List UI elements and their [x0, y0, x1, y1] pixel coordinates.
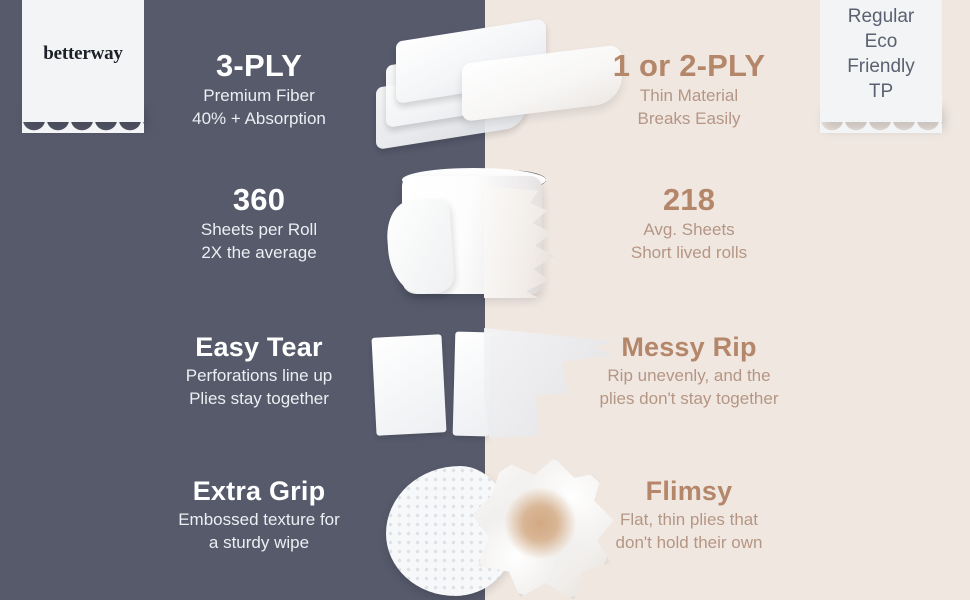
label-line-3: Friendly [847, 56, 915, 77]
subtext-line-1: Rip unevenly, and the [558, 364, 820, 387]
subtext-line-2: 2X the average [128, 241, 390, 264]
roll-paper-flap [385, 198, 455, 296]
feature-left-grip: Extra Grip Embossed texture for a sturdy… [128, 474, 390, 554]
subtext-line-2: Plies stay together [128, 387, 390, 410]
label-line-4: TP [869, 81, 893, 102]
feature-right-rip: Messy Rip Rip unevenly, and the plies do… [558, 330, 820, 410]
headline: 218 [558, 182, 820, 218]
feature-left-ply: 3-PLY Premium Fiber 40% + Absorption [128, 48, 390, 130]
feature-left-tear: Easy Tear Perforations line up Plies sta… [128, 330, 390, 410]
headline: Flimsy [558, 474, 820, 508]
subtext-line-2: a sturdy wipe [128, 531, 390, 554]
label-card: Regular Eco Friendly TP [820, 0, 942, 122]
comparison-infographic: 3-PLY Premium Fiber 40% + Absorption 360… [0, 0, 970, 600]
subtext-line-1: Premium Fiber [128, 84, 390, 107]
brand-card: betterway [22, 0, 144, 122]
subtext-line-1: Perforations line up [128, 364, 390, 387]
subtext-line-2: 40% + Absorption [128, 107, 390, 130]
feature-left-sheets: 360 Sheets per Roll 2X the average [128, 182, 390, 264]
headline: Extra Grip [128, 474, 390, 508]
subtext-line-1: Flat, thin plies that [558, 508, 820, 531]
subtext-line-2: don't hold their own [558, 531, 820, 554]
feature-right-sheets: 218 Avg. Sheets Short lived rolls [558, 182, 820, 264]
headline: 3-PLY [128, 48, 390, 84]
subtext-line-1: Avg. Sheets [558, 218, 820, 241]
headline: Messy Rip [558, 330, 820, 364]
subtext-line-1: Thin Material [558, 84, 820, 107]
brand-logo-text: betterway [43, 43, 122, 65]
subtext-line-2: Breaks Easily [558, 107, 820, 130]
label-card-text: Regular Eco Friendly TP [847, 4, 915, 104]
feature-right-ply: 1 or 2-PLY Thin Material Breaks Easily [558, 48, 820, 130]
subtext-line-2: Short lived rolls [558, 241, 820, 264]
headline: Easy Tear [128, 330, 390, 364]
feature-right-flimsy: Flimsy Flat, thin plies that don't hold … [558, 474, 820, 554]
headline: 360 [128, 182, 390, 218]
subtext-line-2: plies don't stay together [558, 387, 820, 410]
label-line-1: Regular [848, 6, 915, 27]
subtext-line-1: Embossed texture for [128, 508, 390, 531]
subtext-line-1: Sheets per Roll [128, 218, 390, 241]
headline: 1 or 2-PLY [558, 48, 820, 84]
label-line-2: Eco [865, 31, 898, 52]
